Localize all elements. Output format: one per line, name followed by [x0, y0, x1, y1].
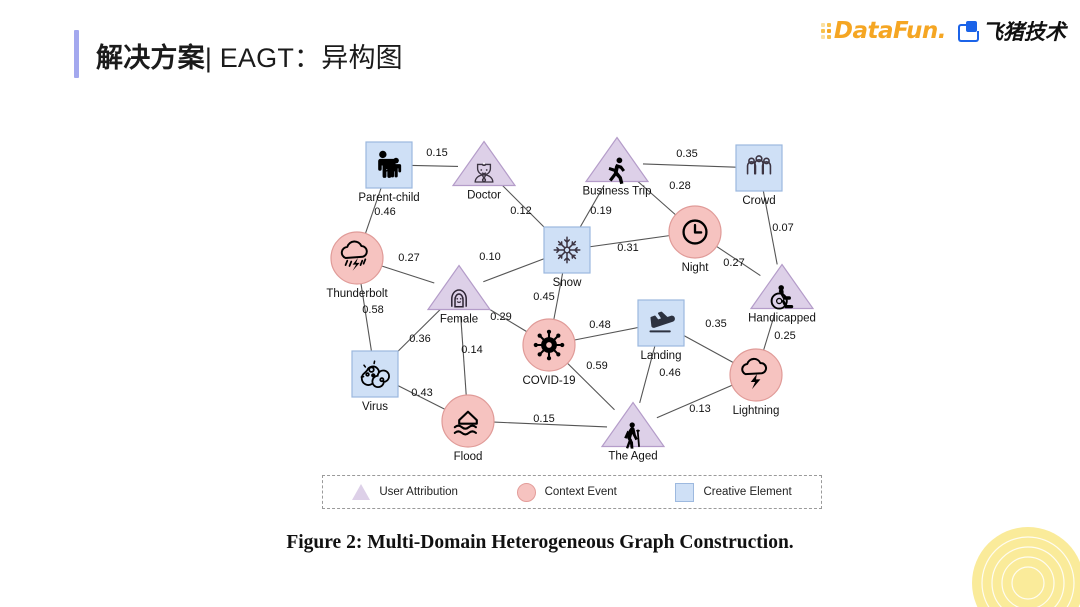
node-label: Parent-child: [358, 192, 419, 204]
figure-caption: Figure 2: Multi-Domain Heterogeneous Gra…: [0, 532, 1080, 554]
node-label: Landing: [641, 350, 682, 362]
node-label: Crowd: [742, 195, 775, 207]
heterogeneous-graph: Parent-childDoctorBusiness TripCrowdThun…: [0, 0, 1080, 607]
edge-weight-label: 0.43: [411, 387, 432, 399]
graph-edge: [461, 317, 466, 395]
graph-node-covid-19[interactable]: COVID-19: [522, 319, 575, 387]
node-label: The Aged: [608, 450, 657, 462]
graph-node-business-trip[interactable]: Business Trip: [582, 137, 651, 197]
edge-weight-label: 0.46: [659, 367, 680, 379]
node-label: Doctor: [467, 189, 501, 201]
node-label: Handicapped: [748, 312, 816, 324]
graph-edge: [684, 336, 733, 363]
node-label: Snow: [553, 277, 582, 289]
graph-edge: [412, 165, 458, 166]
graph-node-crowd[interactable]: Crowd: [736, 145, 782, 207]
graph-node-doctor[interactable]: Doctor: [453, 141, 515, 201]
edge-weight-label: 0.29: [490, 311, 511, 323]
legend-label: Creative Element: [703, 486, 791, 498]
edge-weight-label: 0.19: [590, 205, 611, 217]
legend-item-creative-element: Creative Element: [675, 483, 791, 502]
decorative-circle: [970, 525, 1080, 607]
graph-node-the-aged[interactable]: The Aged: [602, 402, 664, 462]
graph-node-lightning[interactable]: Lightning: [730, 349, 782, 417]
node-label: Lightning: [733, 405, 780, 417]
edge-weight-label: 0.25: [774, 330, 795, 342]
node-label: Night: [682, 262, 710, 274]
node-label: COVID-19: [522, 375, 575, 387]
edge-weight-label: 0.31: [617, 242, 638, 254]
legend-item-user-attribution: User Attribution: [352, 484, 458, 500]
node-label: Business Trip: [582, 185, 651, 197]
graph-node-female[interactable]: Female: [428, 265, 490, 325]
graph-node-thunderbolt[interactable]: Thunderbolt: [326, 232, 388, 300]
node-label: Female: [440, 313, 478, 325]
edge-weight-label: 0.36: [409, 333, 430, 345]
edge-weight-label: 0.59: [586, 360, 607, 372]
graph-node-parent-child[interactable]: Parent-child: [358, 142, 419, 204]
graph-node-handicapped[interactable]: Handicapped: [748, 264, 816, 324]
circle-icon: [517, 483, 536, 502]
edge-weight-label: 0.15: [533, 413, 554, 425]
edge-weight-label: 0.07: [772, 222, 793, 234]
node-shape: [736, 145, 782, 191]
edge-weight-label: 0.15: [426, 147, 447, 159]
square-icon: [675, 483, 694, 502]
edge-weight-label: 0.45: [533, 291, 554, 303]
edge-weight-label: 0.10: [479, 251, 500, 263]
node-shape: [730, 349, 782, 401]
graph-edge: [382, 266, 435, 283]
node-label: Virus: [362, 401, 388, 413]
virus-particle-icon: [534, 330, 565, 361]
node-shape: [544, 227, 590, 273]
edge-weight-label: 0.28: [669, 180, 690, 192]
node-label: Flood: [454, 451, 483, 463]
edge-weight-label: 0.27: [723, 257, 744, 269]
graph-node-snow[interactable]: Snow: [544, 227, 590, 289]
figure-legend: User Attribution Context Event Creative …: [322, 475, 822, 509]
legend-item-context-event: Context Event: [517, 483, 617, 502]
graph-edge: [643, 164, 736, 167]
edge-weight-label: 0.27: [398, 252, 419, 264]
edge-weight-label: 0.13: [689, 403, 710, 415]
edge-weight-label: 0.35: [676, 148, 697, 160]
graph-nodes: Parent-childDoctorBusiness TripCrowdThun…: [326, 137, 816, 463]
edge-weight-label: 0.35: [705, 318, 726, 330]
edge-weight-label: 0.48: [589, 319, 610, 331]
slide-canvas: 解决方案| EAGT：异构图 DataFun. 飞猪技术: [0, 0, 1080, 607]
graph-node-night[interactable]: Night: [669, 206, 721, 274]
edge-weight-label: 0.46: [374, 206, 395, 218]
triangle-icon: [352, 484, 370, 500]
legend-label: Context Event: [545, 486, 617, 498]
edge-weight-label: 0.58: [362, 304, 383, 316]
edge-weight-label: 0.14: [461, 344, 482, 356]
graph-node-virus[interactable]: Virus: [352, 351, 398, 413]
legend-label: User Attribution: [379, 486, 458, 498]
graph-node-flood[interactable]: Flood: [442, 395, 494, 463]
graph-node-landing[interactable]: Landing: [638, 300, 684, 362]
edge-weight-label: 0.12: [510, 205, 531, 217]
node-label: Thunderbolt: [326, 288, 388, 300]
